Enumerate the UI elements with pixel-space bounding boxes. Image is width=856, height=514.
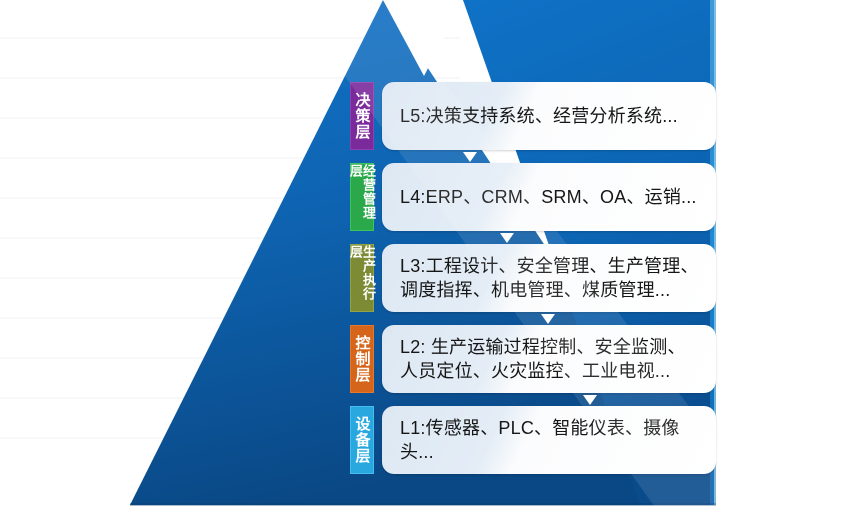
box-l1[interactable]: L1:传感器、PLC、智能仪表、摄像头... [382, 406, 716, 474]
layer-row-l1[interactable]: 设备层 L1:传感器、PLC、智能仪表、摄像头... [350, 406, 716, 474]
layer-row-l5[interactable]: 决策层 L5:决策支持系统、经营分析系统... [350, 82, 716, 150]
box-text-l4: L4:ERP、CRM、SRM、OA、运销... [400, 185, 697, 209]
chip-l5: 决策层 [350, 82, 374, 150]
box-text-l5: L5:决策支持系统、经营分析系统... [400, 104, 678, 128]
chip-l2: 控制层 [350, 325, 374, 393]
box-text-l1: L1:传感器、PLC、智能仪表、摄像头... [400, 416, 702, 465]
diagram-canvas: 决策层 L5:决策支持系统、经营分析系统... 经营管理层 L4:ERP、CRM… [0, 0, 856, 514]
box-l5[interactable]: L5:决策支持系统、经营分析系统... [382, 82, 716, 150]
box-l2[interactable]: L2: 生产运输过程控制、安全监测、人员定位、火灾监控、工业电视... [382, 325, 716, 393]
chip-l4: 经营管理层 [350, 163, 374, 231]
layer-row-l2[interactable]: 控制层 L2: 生产运输过程控制、安全监测、人员定位、火灾监控、工业电视... [350, 325, 716, 393]
box-text-l2: L2: 生产运输过程控制、安全监测、人员定位、火灾监控、工业电视... [400, 335, 702, 384]
box-text-l3: L3:工程设计、安全管理、生产管理、调度指挥、机电管理、煤质管理... [400, 254, 702, 303]
chip-l3: 生产执行层 [350, 244, 374, 312]
arrow-l5-to-l4 [463, 152, 477, 162]
arrow-l2-to-l1 [583, 395, 597, 405]
box-l3[interactable]: L3:工程设计、安全管理、生产管理、调度指挥、机电管理、煤质管理... [382, 244, 716, 312]
arrow-l3-to-l2 [541, 314, 555, 324]
chip-l1: 设备层 [350, 406, 374, 474]
arrow-l4-to-l3 [500, 233, 514, 243]
layer-row-l3[interactable]: 生产执行层 L3:工程设计、安全管理、生产管理、调度指挥、机电管理、煤质管理..… [350, 244, 716, 312]
layer-row-l4[interactable]: 经营管理层 L4:ERP、CRM、SRM、OA、运销... [350, 163, 716, 231]
box-l4[interactable]: L4:ERP、CRM、SRM、OA、运销... [382, 163, 716, 231]
